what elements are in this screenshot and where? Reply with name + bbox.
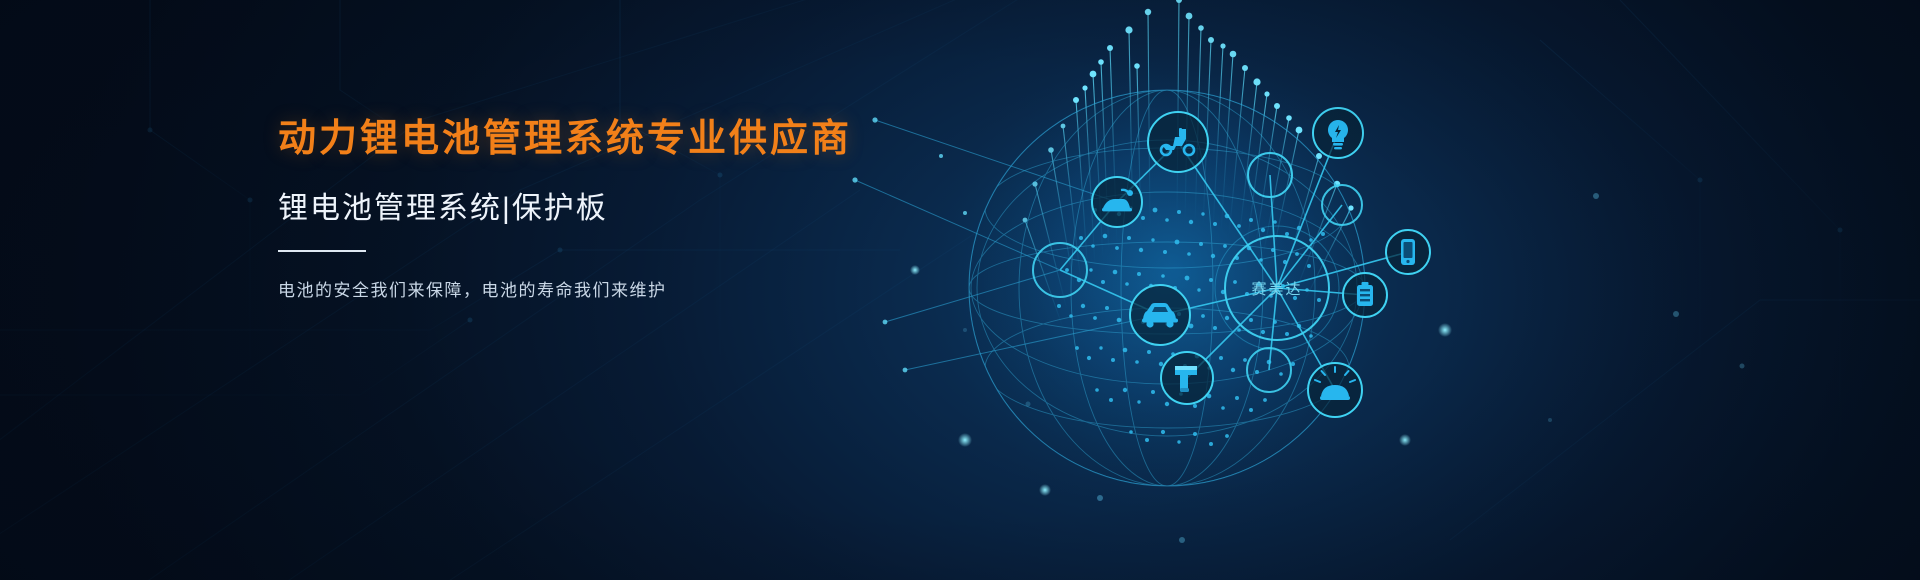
- title-divider: [278, 250, 366, 252]
- node-scooter: [1148, 112, 1208, 172]
- hero-copy: 动力锂电池管理系统专业供应商 锂电池管理系统|保护板 电池的安全我们来保障，电池…: [278, 120, 898, 299]
- node-battery: [1343, 273, 1387, 317]
- node-plug: [1092, 177, 1142, 227]
- globe-center-label: 赛美达: [1251, 281, 1302, 298]
- node-car: [1130, 285, 1190, 345]
- node-drill: [1161, 352, 1213, 404]
- network-globe: 赛美达: [845, 0, 1485, 580]
- node-lightbulb: [1313, 108, 1363, 158]
- node-lamp: [1308, 363, 1362, 417]
- hero-tagline: 电池的安全我们来保障，电池的寿命我们来维护: [278, 282, 898, 299]
- hero-banner: 赛美达: [0, 0, 1920, 580]
- hero-subtitle: 锂电池管理系统|保护板: [278, 194, 898, 224]
- node-phone: [1386, 230, 1430, 274]
- page-title: 动力锂电池管理系统专业供应商: [278, 120, 898, 158]
